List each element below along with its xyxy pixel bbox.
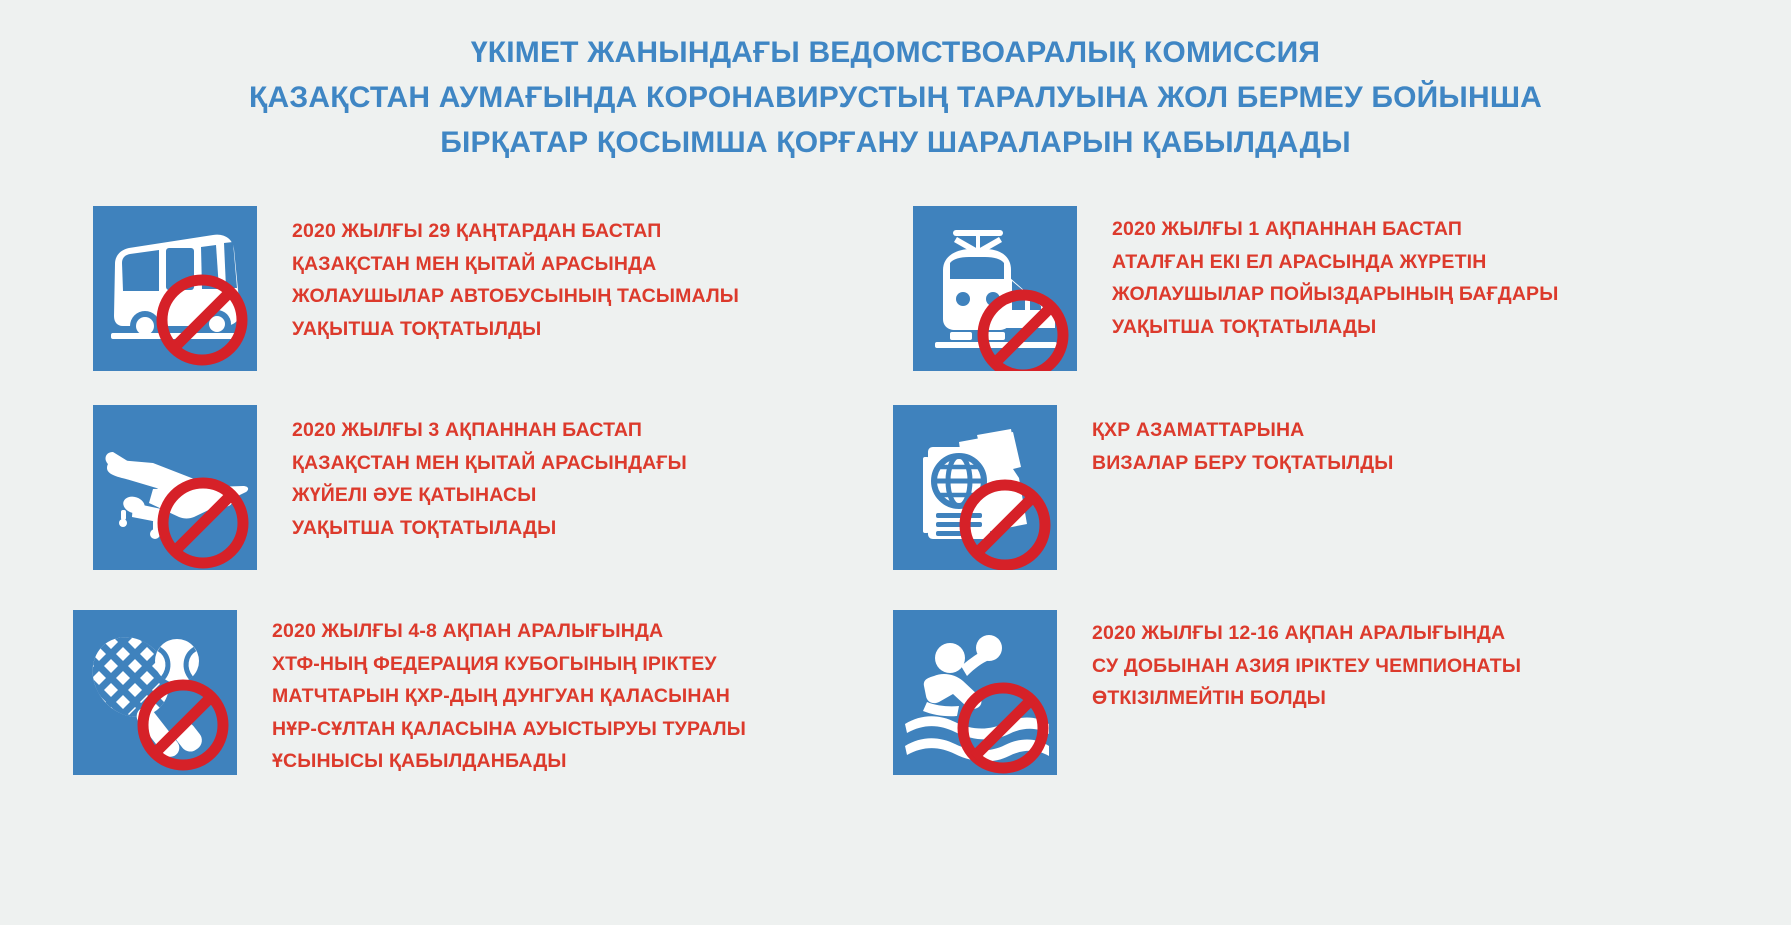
measure-line: ҚАЗАҚСТАН МЕН ҚЫТАЙ АРАСЫНДА	[292, 248, 739, 281]
measure-item-waterpolo: 2020 ЖЫЛҒЫ 12-16 АҚПАН АРАЛЫҒЫНДА СУ ДОБ…	[848, 610, 1678, 810]
measure-line: МАТЧТАРЫН ҚХР-ДЫҢ ДУНГУАН ҚАЛАСЫНАН	[272, 680, 746, 713]
measure-line: ВИЗАЛАР БЕРУ ТОҚТАТЫЛДЫ	[1092, 447, 1394, 480]
measure-line: ХТФ-НЫҢ ФЕДЕРАЦИЯ КУБОГЫНЫҢ ІРІКТЕУ	[272, 648, 746, 681]
measure-text-tennis: 2020 ЖЫЛҒЫ 4-8 АҚПАН АРАЛЫҒЫНДА ХТФ-НЫҢ …	[272, 610, 746, 778]
measure-line: ҚАЗАҚСТАН МЕН ҚЫТАЙ АРАСЫНДАҒЫ	[292, 447, 687, 480]
measure-line: УАҚЫТША ТОҚТАТЫЛАДЫ	[1112, 311, 1558, 344]
measure-item-tennis: 2020 ЖЫЛҒЫ 4-8 АҚПАН АРАЛЫҒЫНДА ХТФ-НЫҢ …	[28, 610, 848, 810]
measure-item-train: 2020 ЖЫЛҒЫ 1 АҚПАННАН БАСТАП АТАЛҒАН ЕКІ…	[848, 206, 1678, 405]
page-title: ҮКІМЕТ ЖАНЫНДАҒЫ ВЕДОМСТВОАРАЛЫҚ КОМИССИ…	[28, 6, 1763, 165]
measure-item-airplane: 2020 ЖЫЛҒЫ 3 АҚПАННАН БАСТАП ҚАЗАҚСТАН М…	[28, 405, 848, 610]
tennis-prohibited-icon	[73, 610, 237, 775]
infographic-slide: ҮКІМЕТ ЖАНЫНДАҒЫ ВЕДОМСТВОАРАЛЫҚ КОМИССИ…	[28, 6, 1763, 919]
measure-line: АТАЛҒАН ЕКІ ЕЛ АРАСЫНДА ЖҮРЕТІН	[1112, 246, 1558, 279]
measure-line: 2020 ЖЫЛҒЫ 12-16 АҚПАН АРАЛЫҒЫНДА	[1092, 617, 1521, 650]
measure-line: ЖОЛАУШЫЛАР ПОЙЫЗДАРЫНЫҢ БАҒДАРЫ	[1112, 278, 1558, 311]
measure-line: 2020 ЖЫЛҒЫ 1 АҚПАННАН БАСТАП	[1112, 213, 1558, 246]
measure-line: ҚХР АЗАМАТТАРЫНА	[1092, 414, 1394, 447]
measure-line: 2020 ЖЫЛҒЫ 3 АҚПАННАН БАСТАП	[292, 414, 687, 447]
measure-line: 2020 ЖЫЛҒЫ 29 ҚАҢТАРДАН БАСТАП	[292, 215, 739, 248]
measure-text-airplane: 2020 ЖЫЛҒЫ 3 АҚПАННАН БАСТАП ҚАЗАҚСТАН М…	[292, 405, 687, 544]
measure-text-visa: ҚХР АЗАМАТТАРЫНА ВИЗАЛАР БЕРУ ТОҚТАТЫЛДЫ	[1092, 405, 1394, 479]
train-prohibited-icon	[913, 206, 1077, 371]
measure-line: УАҚЫТША ТОҚТАТЫЛАДЫ	[292, 512, 687, 545]
measure-line: УАҚЫТША ТОҚТАТЫЛДЫ	[292, 313, 739, 346]
measure-text-bus: 2020 ЖЫЛҒЫ 29 ҚАҢТАРДАН БАСТАП ҚАЗАҚСТАН…	[292, 206, 739, 345]
measures-grid: 2020 ЖЫЛҒЫ 29 ҚАҢТАРДАН БАСТАП ҚАЗАҚСТАН…	[28, 206, 1763, 810]
page-title-line-1: ҮКІМЕТ ЖАНЫНДАҒЫ ВЕДОМСТВОАРАЛЫҚ КОМИССИ…	[28, 30, 1763, 75]
airplane-prohibited-icon	[93, 405, 257, 570]
measure-item-bus: 2020 ЖЫЛҒЫ 29 ҚАҢТАРДАН БАСТАП ҚАЗАҚСТАН…	[28, 206, 848, 405]
measure-line: СУ ДОБЫНАН АЗИЯ ІРІКТЕУ ЧЕМПИОНАТЫ	[1092, 650, 1521, 683]
measure-line: НҰР-СҰЛТАН ҚАЛАСЫНА АУЫСТЫРУЫ ТУРАЛЫ	[272, 713, 746, 746]
waterpolo-prohibited-icon	[893, 610, 1057, 775]
measure-text-waterpolo: 2020 ЖЫЛҒЫ 12-16 АҚПАН АРАЛЫҒЫНДА СУ ДОБ…	[1092, 610, 1521, 715]
measure-line: ЖОЛАУШЫЛАР АВТОБУСЫНЫҢ ТАСЫМАЛЫ	[292, 280, 739, 313]
measure-line: ЖҮЙЕЛІ ӘУЕ ҚАТЫНАСЫ	[292, 479, 687, 512]
measure-line: 2020 ЖЫЛҒЫ 4-8 АҚПАН АРАЛЫҒЫНДА	[272, 615, 746, 648]
measure-item-visa: ҚХР АЗАМАТТАРЫНА ВИЗАЛАР БЕРУ ТОҚТАТЫЛДЫ	[848, 405, 1678, 610]
page-title-line-2: ҚАЗАҚСТАН АУМАҒЫНДА КОРОНАВИРУСТЫҢ ТАРАЛ…	[28, 75, 1763, 120]
bus-prohibited-icon	[93, 206, 257, 371]
page-title-line-3: БІРҚАТАР ҚОСЫМША ҚОРҒАНУ ШАРАЛАРЫН ҚАБЫЛ…	[28, 120, 1763, 165]
passport-prohibited-icon	[893, 405, 1057, 570]
measure-line: ҰСЫНЫСЫ ҚАБЫЛДАНБАДЫ	[272, 745, 746, 778]
measure-line: ӨТКІЗІЛМЕЙТІН БОЛДЫ	[1092, 682, 1521, 715]
measure-text-train: 2020 ЖЫЛҒЫ 1 АҚПАННАН БАСТАП АТАЛҒАН ЕКІ…	[1112, 206, 1558, 343]
